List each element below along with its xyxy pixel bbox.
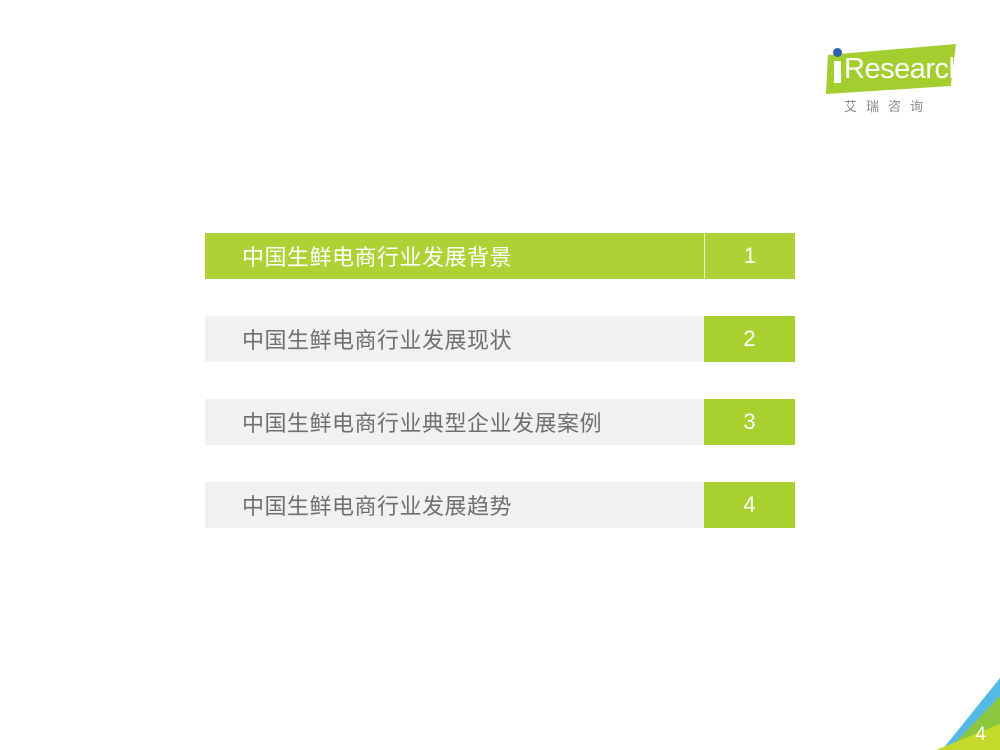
slide-canvas: Research 艾瑞咨询 中国生鲜电商行业发展背景 1 中国生鲜电商行业发展现… [0,0,1000,750]
toc-item-3-label: 中国生鲜电商行业典型企业发展案例 [205,399,704,445]
table-of-contents: 中国生鲜电商行业发展背景 1 中国生鲜电商行业发展现状 2 中国生鲜电商行业典型… [205,233,795,528]
logo-i-dot-icon [833,48,842,57]
corner-decoration: 4 [928,678,1000,750]
logo-i-stem-icon [834,61,841,83]
logo-mark: Research [826,44,956,94]
logo-wordmark: Research [844,50,964,88]
toc-item-3-number: 3 [704,399,795,445]
toc-item-4-label: 中国生鲜电商行业发展趋势 [205,482,704,528]
page-number: 4 [975,725,986,744]
toc-item-2-number: 2 [704,316,795,362]
toc-item-1[interactable]: 中国生鲜电商行业发展背景 1 [205,233,795,279]
toc-item-4[interactable]: 中国生鲜电商行业发展趋势 4 [205,482,795,528]
toc-item-4-number: 4 [704,482,795,528]
toc-item-2-label: 中国生鲜电商行业发展现状 [205,316,704,362]
toc-item-1-label: 中国生鲜电商行业发展背景 [205,233,704,279]
toc-item-3[interactable]: 中国生鲜电商行业典型企业发展案例 3 [205,399,795,445]
toc-item-2[interactable]: 中国生鲜电商行业发展现状 2 [205,316,795,362]
toc-item-1-number: 1 [704,233,795,279]
logo-chinese-name: 艾瑞咨询 [818,96,958,115]
iresearch-logo: Research 艾瑞咨询 [806,44,956,124]
